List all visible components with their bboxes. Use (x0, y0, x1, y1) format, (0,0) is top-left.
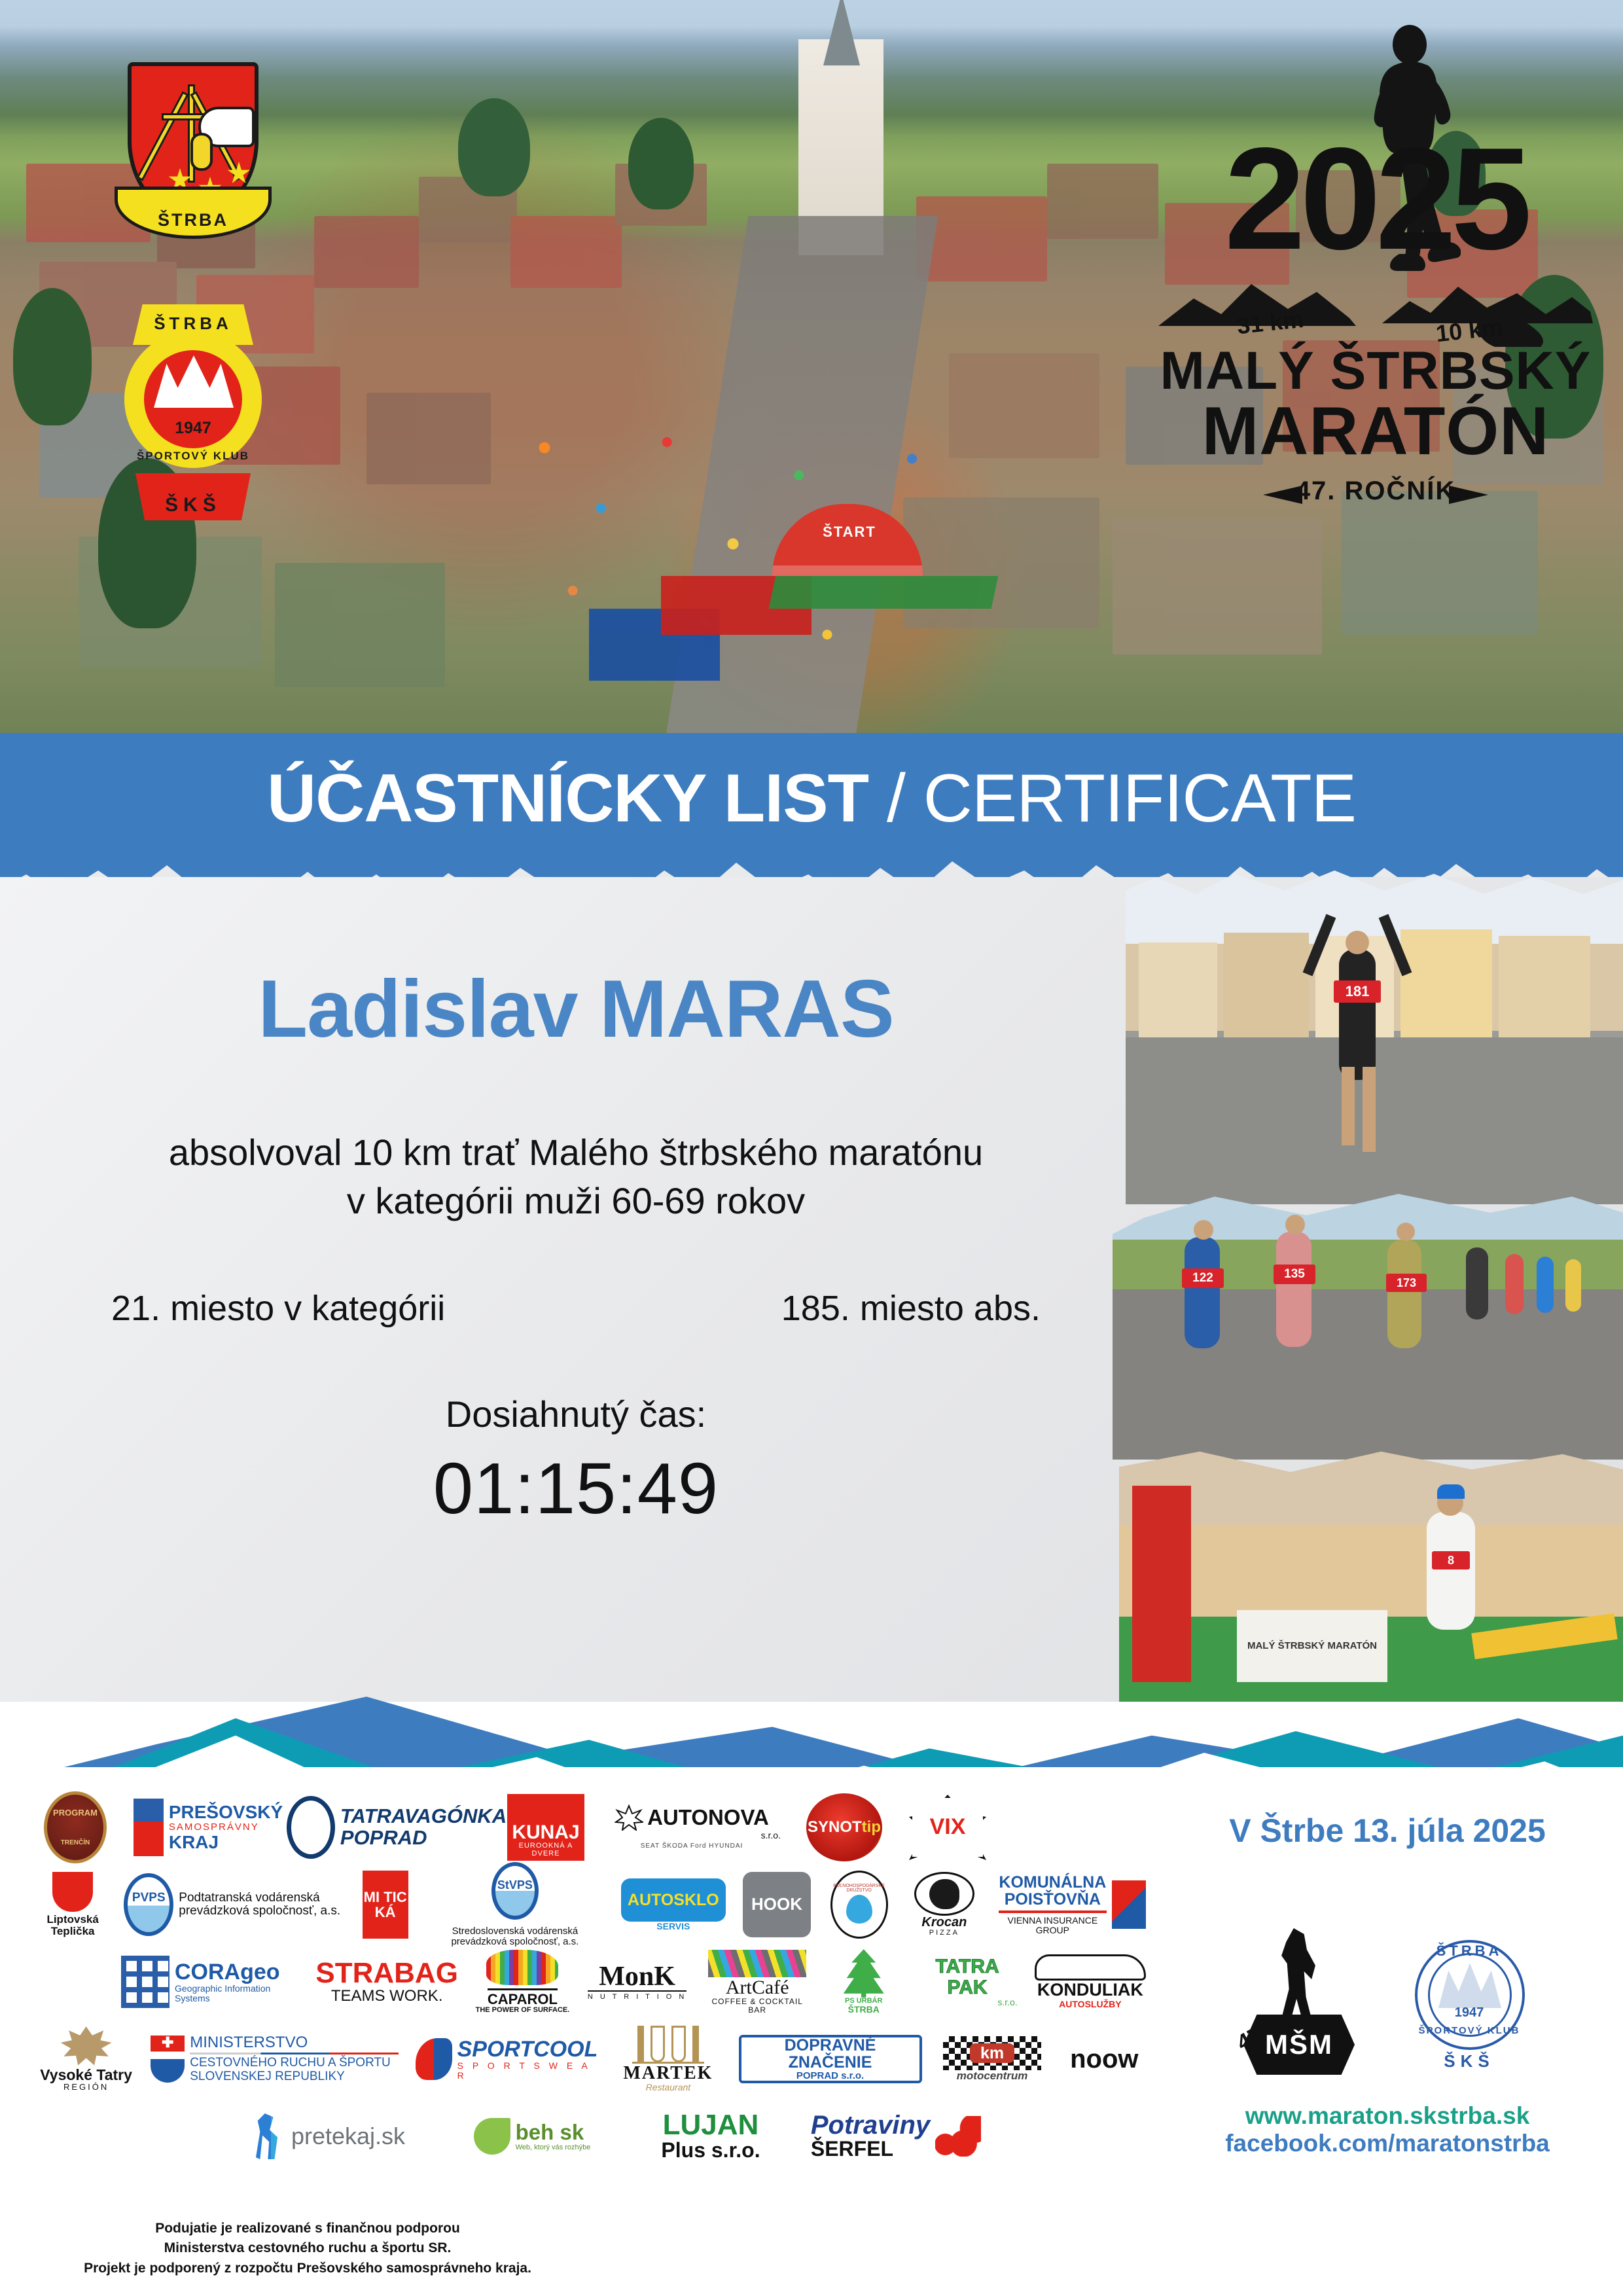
footer-right-column: V Štrbe 13. júla 2025 47. MŠM ŠTRBA 1947… (1171, 1793, 1603, 2157)
description-line-1: absolvoval 10 km trať Malého štrbského m… (0, 1128, 1152, 1177)
sponsor-sublabel: TEAMS WORK. (331, 1988, 443, 2004)
sponsor-sublabel: Restaurant (646, 2083, 690, 2092)
sponsor-label: STRABAG (315, 1959, 458, 1988)
sponsor-sublabel: Web, ktorý vás rozhýbe (516, 2144, 591, 2152)
sponsor-ministerstvo[interactable]: ✚ MINISTERSTVO CESTOVNÉHO RUCHU A ŠPORTU… (148, 2025, 401, 2093)
photo-runners-on-road: 122 135 173 (1113, 1191, 1623, 1460)
sks-year: 1947 (108, 419, 278, 438)
msm-edition-emblem: 47. MŠM (1237, 1928, 1361, 2079)
green-finish-carpet (769, 576, 999, 609)
sponsor-label: MINISTERSTVO (190, 2034, 398, 2051)
facebook-url[interactable]: facebook.com/maratonstrba (1171, 2130, 1603, 2157)
bib-number: 135 (1274, 1265, 1315, 1284)
sponsor-sublabel-2: KRAJ (169, 1833, 283, 1852)
sponsor-sublabel: EUROOKNÁ A DVERE (507, 1842, 584, 1857)
description-line-2: v kategórii muži 60-69 rokov (0, 1177, 1152, 1225)
sponsor-label: CORAgeo (175, 1960, 298, 1984)
sponsor-dopravne-znacenie[interactable]: DOPRAVNÉ ZNAČENIE POPRAD s.r.o. (736, 2025, 925, 2093)
event-date: V Štrbe 13. júla 2025 (1171, 1812, 1603, 1850)
absolute-placement: 185. miesto abs. (781, 1288, 1041, 1329)
sponsor-sublabel: Geographic Information Systems (175, 1984, 298, 2003)
mountain-ridge-icon (1153, 275, 1605, 347)
sponsor-label: ArtCafé (726, 1977, 789, 1998)
photo-collage: 181 122 135 173 8 MALÝ (1113, 870, 1623, 1702)
runner-silhouette-icon (1275, 1928, 1322, 2026)
brand-year: 2025 (1147, 143, 1605, 256)
sponsor-stvps[interactable]: StVPS Stredoslovenská vodárenská prevádz… (423, 1871, 607, 1939)
starburst-icon (615, 1804, 643, 1831)
bib-number: 173 (1386, 1274, 1427, 1292)
sponsor-label: SPORTCOOL (457, 2037, 598, 2061)
sponsor-vix[interactable]: VIX (905, 1793, 990, 1861)
achievement-description: absolvoval 10 km trať Malého štrbského m… (0, 1128, 1152, 1225)
sponsor-sublabel: AUTOSLUŽBY (1059, 2000, 1121, 2009)
stamp-arc-label: ŠPORTOVÝ KLUB (1400, 2025, 1538, 2036)
sponsor-autosklo-servis[interactable]: AUTOSKLO SERVIS (618, 1871, 728, 1939)
sponsor-sublabel: CESTOVNÉHO RUCHU A ŠPORTU SLOVENSKEJ REP… (190, 2056, 398, 2084)
marathon-brand-lockup: 2025 31 km 10 km MALÝ ŠTRBSKÝ MARATÓN 47… (1147, 18, 1605, 588)
coa-ribbon: ŠTRBA (115, 187, 272, 239)
sks-arc-label: ŠPORTOVÝ KLUB (108, 450, 278, 463)
sponsor-label: DOPRAVNÉ ZNAČENIE (741, 2037, 919, 2072)
sponsor-label: SYNOT (808, 1819, 862, 1835)
sponsor-row-2: Liptovská Teplička PVPS Podtatranská vod… (36, 1871, 1149, 1939)
certificate-text-block: Ladislav MARAS absolvoval 10 km trať Mal… (0, 969, 1152, 1530)
category-placement: 21. miesto v kategórii (111, 1288, 445, 1329)
certificate-title-band: ÚČASTNÍCKY LIST / CERTIFICATE (0, 733, 1623, 884)
sponsor-label: PROGRAM (53, 1808, 98, 1818)
sponsor-potraviny-serfel[interactable]: Potraviny ŠERFEL (798, 2102, 994, 2170)
sponsor-label: HOOK (751, 1895, 802, 1913)
chevron-right-icon (1449, 486, 1488, 504)
sponsor-sublabel: S P O R T S W E A R (457, 2061, 598, 2081)
sponsor-sublabel: Podtatranská vodárenská prevádzková spol… (179, 1892, 344, 1918)
coa-cuff (190, 133, 213, 171)
certificate-page: ŠTART ŠTRBA ŠTRBA 1947 ŠPO (0, 0, 1623, 2296)
sponsor-row-3: CORAgeo Geographic Information Systems S… (36, 1948, 1149, 2016)
sponsor-label: Vysoké Tatry (40, 2067, 132, 2083)
sponsor-row-4: Vysoké Tatry REGIÓN ✚ MINISTERSTVO CESTO… (36, 2025, 1149, 2093)
sponsor-label: LUJAN (663, 2111, 759, 2140)
sponsor-sublabel: s.r.o. (997, 1998, 1017, 2007)
sponsor-label: CAPAROL (488, 1988, 558, 2007)
sponsor-footer: PROGRAM TRENČÍN PREŠOVSKÝ SAMOSPRÁVNY KR… (0, 1767, 1623, 2296)
certificate-title: ÚČASTNÍCKY LIST / CERTIFICATE (0, 764, 1623, 833)
sponsor-label: noow (1070, 2045, 1138, 2073)
sks-club-badge: ŠTRBA 1947 ŠPORTOVÝ KLUB ŠKŠ (108, 304, 278, 520)
sponsor-label: MonK (599, 1963, 675, 1990)
sponsor-sportcool[interactable]: SPORTCOOL S P O R T S W E A R (413, 2025, 601, 2093)
msm-acronym: MŠM (1243, 2015, 1355, 2075)
sponsor-label: MI TIC KÁ (363, 1890, 408, 1920)
bib-number: 122 (1182, 1268, 1224, 1288)
strba-coat-of-arms: ŠTRBA (115, 62, 272, 259)
sponsor-sublabel: COFFEE & COCKTAIL BAR (704, 1998, 810, 2014)
start-arch-label: ŠTART (797, 524, 902, 541)
stamp-top-label: ŠTRBA (1400, 1943, 1538, 1960)
sponsor-sublabel: PIZZA (929, 1929, 959, 1937)
title-separator: / (868, 761, 923, 836)
sponsor-sublabel: ŠERFEL (811, 2138, 930, 2161)
stamp-year: 1947 (1400, 2005, 1538, 2020)
sponsor-sublabel: Teplička (51, 1925, 95, 1937)
participant-name: Ladislav MARAS (0, 969, 1152, 1050)
sponsor-krocan-pizza[interactable]: Krocan PIZZA (904, 1871, 984, 1939)
sks-official-stamp: ŠTRBA 1947 ŠPORTOVÝ KLUB ŠKŠ (1400, 1928, 1538, 2079)
website-url[interactable]: www.maraton.skstrba.sk (1171, 2102, 1603, 2130)
stamp-bottom-label: ŠKŠ (1400, 2051, 1538, 2072)
sponsor-label: Krocan (921, 1916, 967, 1929)
placement-row: 21. miesto v kategórii 185. miesto abs. (0, 1288, 1152, 1329)
sponsor-tatravagonka-poprad[interactable]: TATRAVAGÓNKA POPRAD (302, 1793, 491, 1861)
sks-bottom-label: ŠKŠ (135, 494, 251, 516)
sponsor-sublabel: SERVIS (656, 1922, 690, 1931)
sponsor-label: VIX (930, 1816, 966, 1839)
sponsor-strabag[interactable]: STRABAG TEAMS WORK. (313, 1948, 461, 2016)
sponsor-corageo[interactable]: CORAgeo Geographic Information Systems (118, 1948, 301, 2016)
sponsor-vysoke-tatry[interactable]: Vysoké Tatry REGIÓN (36, 2025, 136, 2093)
bib-number: 181 (1334, 980, 1381, 1003)
support-line-3: Projekt je podporený z rozpočtu Prešovsk… (65, 2259, 550, 2278)
sponsor-autonova[interactable]: AUTONOVA s.r.o. SEAT ŠKODA Ford HYUNDAI (600, 1793, 783, 1861)
brand-edition: 47. ROČNÍK (1147, 476, 1605, 506)
coa-ribbon-label: ŠTRBA (118, 210, 268, 230)
sponsor-label: TATRAVAGÓNKA (340, 1806, 507, 1827)
sponsor-konduliak[interactable]: KONDULIAK AUTOSLUŽBY (1032, 1948, 1149, 2016)
sponsor-label: KOMUNÁLNA POISŤOVŇA (999, 1874, 1107, 1909)
support-line-2: Ministerstva cestovného ruchu a športu S… (65, 2238, 550, 2258)
sponsor-ps-urbar-strba[interactable]: PS URBÁR ŠTRBA (825, 1948, 902, 2016)
sponsor-sublabel: THE POWER OF SURFACE. (476, 2007, 570, 2015)
sponsor-label: Liptovská (46, 1913, 98, 1926)
footer-emblems: 47. MŠM ŠTRBA 1947 ŠPORTOVÝ KLUB ŠKŠ (1171, 1928, 1603, 2079)
sponsor-martek-restaurant[interactable]: MARTEK Restaurant (612, 2025, 724, 2093)
sponsor-label: pretekaj.sk (291, 2124, 405, 2149)
sponsor-artcafe[interactable]: ArtCafé COFFEE & COCKTAIL BAR (702, 1948, 813, 2016)
sponsor-brand-list: SEAT ŠKODA Ford HYUNDAI (641, 1843, 743, 1850)
contact-urls: www.maraton.skstrba.sk facebook.com/mara… (1171, 2102, 1603, 2157)
sponsor-sublabel: s.r.o. (761, 1831, 781, 1840)
hero-photo-village-start: ŠTART ŠTRBA ŠTRBA 1947 ŠPO (0, 0, 1623, 740)
sponsor-sublabel: REGIÓN (63, 2083, 109, 2092)
sponsor-label: km (970, 2043, 1014, 2063)
sponsor-noow[interactable]: noow (1060, 2025, 1149, 2093)
sponsor-synot-tip[interactable]: SYNOTtip (795, 1793, 893, 1861)
support-line-1: Podujatie je realizované s finančnou pod… (65, 2219, 550, 2238)
sponsor-label: PREŠOVSKÝ (169, 1803, 283, 1822)
church-spire (823, 0, 860, 65)
sponsor-lujan-plus[interactable]: LUJAN Plus s.r.o. (635, 2102, 786, 2170)
sponsor-label: KUNAJ (512, 1822, 579, 1843)
sponsor-label: KONDULIAK (1037, 1981, 1143, 1999)
sponsor-label: Potraviny (811, 2112, 930, 2138)
sponsor-sublabel: motocentrum (957, 2070, 1028, 2082)
sponsor-sublabel: Stredoslovenská vodárenská prevádzková s… (426, 1926, 604, 1947)
sponsor-tatra-pak[interactable]: TATRA PAK s.r.o. (914, 1948, 1020, 2016)
sponsor-miticka[interactable]: MI TIC KÁ (359, 1871, 412, 1939)
sponsor-label: AUTOSKLO (628, 1892, 719, 1909)
sponsor-sublabel: ŠTRBA (848, 2005, 880, 2015)
brand-line-2: MARATÓN (1147, 393, 1605, 471)
sponsor-label: beh sk (516, 2121, 591, 2144)
sks-bottom-band: ŠKŠ (135, 473, 251, 520)
sponsor-label: AUTONOVA (647, 1806, 769, 1829)
sponsor-pvps[interactable]: PVPS Podtatranská vodárenská prevádzková… (121, 1871, 347, 1939)
title-secondary: CERTIFICATE (923, 761, 1356, 836)
sponsor-sublabel: SAMOSPRÁVNY (169, 1822, 283, 1833)
sponsor-kunaj[interactable]: KUNAJ EUROOKNÁ A DVERE (503, 1793, 588, 1861)
sponsor-label: StVPS (497, 1879, 533, 1892)
sponsor-program-trencin[interactable]: PROGRAM TRENČÍN (36, 1793, 115, 1861)
sponsor-komunalna-poistovna[interactable]: KOMUNÁLNA POISŤOVŇA VIENNA INSURANCE GRO… (996, 1871, 1149, 1939)
title-main: ÚČASTNÍCKY LIST (267, 761, 868, 836)
sponsor-label: TATRA PAK (917, 1956, 1017, 1998)
sponsor-grid: PROGRAM TRENČÍN PREŠOVSKÝ SAMOSPRÁVNY KR… (36, 1793, 1149, 2179)
funding-support-note: Podujatie je realizované s finančnou pod… (65, 2219, 550, 2278)
sponsor-sublabel: VIENNA INSURANCE GROUP (999, 1916, 1107, 1935)
sponsor-beh-sk[interactable]: beh sk Web, ktorý vás rozhýbe (440, 2102, 624, 2170)
sponsor-row-1: PROGRAM TRENČÍN PREŠOVSKÝ SAMOSPRÁVNY KR… (36, 1793, 1149, 1861)
sponsor-sublabel: tip (862, 1819, 881, 1835)
sponsor-sublabel: POPRAD s.r.o. (796, 2071, 864, 2081)
sponsor-monk-nutrition[interactable]: MonK N U T R I T I O N (584, 1948, 690, 2016)
sponsor-presovsky-kraj[interactable]: PREŠOVSKÝ SAMOSPRÁVNY KRAJ (126, 1793, 290, 1861)
sponsor-label: POĽNOHOSPODÁRSKE DRUŽSTVO (832, 1884, 886, 1893)
finish-time-label: Dosiahnutý čas: (0, 1393, 1152, 1435)
sponsor-label: PVPS (132, 1892, 166, 1905)
sponsor-label: MARTEK (623, 2064, 713, 2083)
brand-distance-row: 31 km 10 km (1153, 275, 1605, 347)
sponsor-sublabel: N U T R I T I O N (588, 1990, 687, 2001)
photo-finish-female-runner: 181 (1126, 870, 1623, 1204)
sponsor-sublabel: TRENČÍN (61, 1840, 90, 1847)
finish-time-value: 01:15:49 (0, 1447, 1152, 1530)
sponsor-liptovska-teplicka[interactable]: Liptovská Teplička (36, 1871, 109, 1939)
sponsor-caparol[interactable]: CAPAROL THE POWER OF SURFACE. (473, 1948, 573, 2016)
sponsor-km-motocentrum[interactable]: km motocentrum (936, 2025, 1048, 2093)
sponsor-pd-strba[interactable]: POĽNOHOSPODÁRSKE DRUŽSTVO (825, 1871, 893, 1939)
sponsor-hook[interactable]: HOOK (740, 1871, 813, 1939)
sponsor-row-5: pretekaj.sk beh sk Web, ktorý vás rozhýb… (36, 2102, 1149, 2170)
sponsor-pretekaj-sk[interactable]: pretekaj.sk (232, 2102, 429, 2170)
sponsor-sublabel: POPRAD (340, 1827, 507, 1849)
sponsor-sublabel: Plus s.r.o. (661, 2140, 760, 2162)
